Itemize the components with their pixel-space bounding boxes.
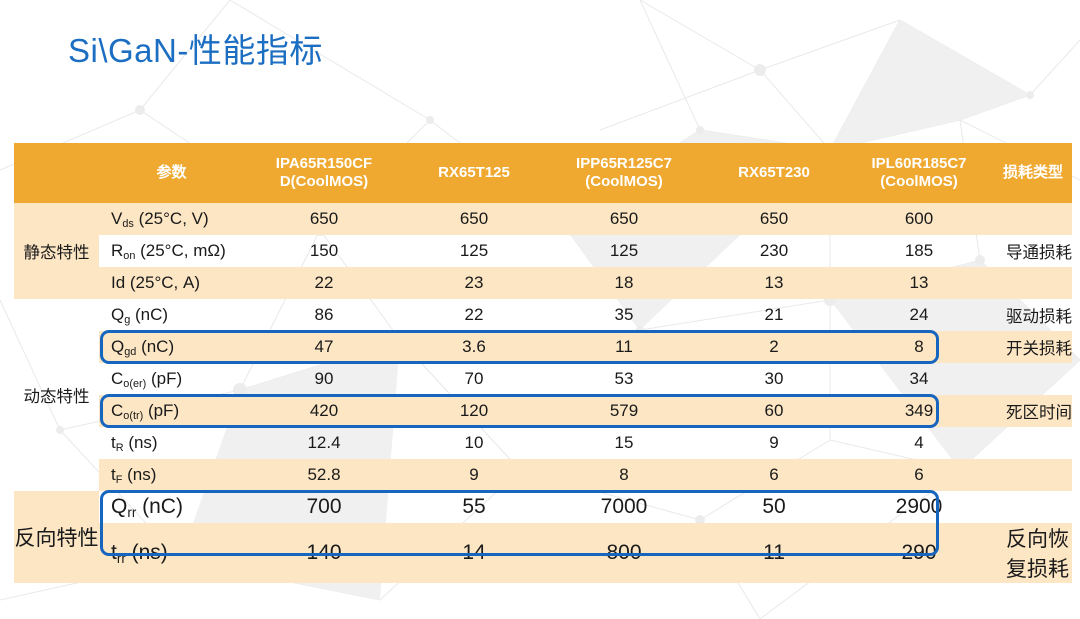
- value-cell: 10: [404, 427, 544, 459]
- value-cell: 2900: [844, 491, 994, 523]
- header-line-1: IPP65R125C7: [576, 155, 672, 172]
- loss-type-cell: 死区时间: [994, 395, 1072, 427]
- value-cell: 2: [704, 331, 844, 363]
- loss-type-cell: [994, 427, 1072, 459]
- spec-table-container: 参数 IPA65R150CF D(CoolMOS) RX65T125 IPP65…: [14, 143, 1072, 583]
- value-cell: 13: [844, 267, 994, 299]
- value-cell: 4: [844, 427, 994, 459]
- table-row: tR (ns)12.4101594: [14, 427, 1072, 459]
- header-line-2: (CoolMOS): [880, 173, 957, 190]
- value-cell: 14: [404, 523, 544, 583]
- value-cell: 800: [544, 523, 704, 583]
- table-row: Qgd (nC)473.61128开关损耗: [14, 331, 1072, 363]
- value-cell: 650: [244, 203, 404, 235]
- value-cell: 6: [844, 459, 994, 491]
- value-cell: 50: [704, 491, 844, 523]
- value-cell: 140: [244, 523, 404, 583]
- spec-table: 参数 IPA65R150CF D(CoolMOS) RX65T125 IPP65…: [14, 143, 1072, 583]
- header-line-1: IPL60R185C7: [871, 155, 966, 172]
- value-cell: 120: [404, 395, 544, 427]
- row-group-label: 动态特性: [14, 299, 99, 491]
- value-cell: 12.4: [244, 427, 404, 459]
- row-group-label: 反向特性: [14, 491, 99, 583]
- param-name: Qrr (nC): [99, 491, 244, 523]
- value-cell: 349: [844, 395, 994, 427]
- value-cell: 650: [404, 203, 544, 235]
- table-row: Co(er) (pF)9070533034: [14, 363, 1072, 395]
- param-name: Vds (25°C, V): [99, 203, 244, 235]
- param-name: Qg (nC): [99, 299, 244, 331]
- header-param: 参数: [99, 143, 244, 203]
- value-cell: 35: [544, 299, 704, 331]
- header-group-blank: [14, 143, 99, 203]
- loss-type-cell: [994, 203, 1072, 235]
- value-cell: 11: [544, 331, 704, 363]
- table-row: trr (ns)1401480011290反向恢复损耗: [14, 523, 1072, 583]
- value-cell: 52.8: [244, 459, 404, 491]
- value-cell: 22: [244, 267, 404, 299]
- value-cell: 230: [704, 235, 844, 267]
- table-body: 静态特性Vds (25°C, V)650650650650600Ron (25°…: [14, 203, 1072, 583]
- loss-type-cell: [994, 267, 1072, 299]
- value-cell: 8: [544, 459, 704, 491]
- value-cell: 7000: [544, 491, 704, 523]
- value-cell: 18: [544, 267, 704, 299]
- value-cell: 60: [704, 395, 844, 427]
- table-row: 静态特性Vds (25°C, V)650650650650600: [14, 203, 1072, 235]
- header-loss-type: 损耗类型: [994, 143, 1072, 203]
- header-ipa65r150cfd: IPA65R150CF D(CoolMOS): [244, 143, 404, 203]
- header-line-1: IPA65R150CF: [276, 155, 372, 172]
- value-cell: 23: [404, 267, 544, 299]
- header-ipl60r185c7: IPL60R185C7 (CoolMOS): [844, 143, 994, 203]
- value-cell: 22: [404, 299, 544, 331]
- loss-type-cell: 开关损耗: [994, 331, 1072, 363]
- value-cell: 650: [544, 203, 704, 235]
- loss-type-cell: 驱动损耗: [994, 299, 1072, 331]
- loss-type-cell: 导通损耗: [994, 235, 1072, 267]
- table-row: Ron (25°C, mΩ)150125125230185导通损耗: [14, 235, 1072, 267]
- slide-title: Si\GaN-性能指标: [68, 24, 323, 72]
- value-cell: 24: [844, 299, 994, 331]
- table-row: 反向特性Qrr (nC)700557000502900: [14, 491, 1072, 523]
- loss-type-cell: [994, 491, 1072, 523]
- loss-type-cell: [994, 459, 1072, 491]
- value-cell: 13: [704, 267, 844, 299]
- value-cell: 125: [544, 235, 704, 267]
- value-cell: 9: [704, 427, 844, 459]
- value-cell: 34: [844, 363, 994, 395]
- value-cell: 11: [704, 523, 844, 583]
- value-cell: 86: [244, 299, 404, 331]
- value-cell: 30: [704, 363, 844, 395]
- value-cell: 55: [404, 491, 544, 523]
- value-cell: 125: [404, 235, 544, 267]
- loss-type-cell: [994, 363, 1072, 395]
- value-cell: 90: [244, 363, 404, 395]
- header-rx65t125: RX65T125: [404, 143, 544, 203]
- header-rx65t230: RX65T230: [704, 143, 844, 203]
- value-cell: 3.6: [404, 331, 544, 363]
- header-line-2: D(CoolMOS): [280, 173, 368, 190]
- value-cell: 700: [244, 491, 404, 523]
- loss-type-cell: 反向恢复损耗: [994, 523, 1072, 583]
- value-cell: 650: [704, 203, 844, 235]
- value-cell: 21: [704, 299, 844, 331]
- param-name: Id (25°C, A): [99, 267, 244, 299]
- table-row: Id (25°C, A)2223181313: [14, 267, 1072, 299]
- value-cell: 600: [844, 203, 994, 235]
- table-row: tF (ns)52.89866: [14, 459, 1072, 491]
- param-name: tF (ns): [99, 459, 244, 491]
- value-cell: 47: [244, 331, 404, 363]
- value-cell: 8: [844, 331, 994, 363]
- row-group-label: 静态特性: [14, 203, 99, 299]
- value-cell: 420: [244, 395, 404, 427]
- value-cell: 6: [704, 459, 844, 491]
- param-name: Co(er) (pF): [99, 363, 244, 395]
- value-cell: 9: [404, 459, 544, 491]
- table-header-row: 参数 IPA65R150CF D(CoolMOS) RX65T125 IPP65…: [14, 143, 1072, 203]
- param-name: Ron (25°C, mΩ): [99, 235, 244, 267]
- param-name: Co(tr) (pF): [99, 395, 244, 427]
- value-cell: 579: [544, 395, 704, 427]
- value-cell: 185: [844, 235, 994, 267]
- value-cell: 70: [404, 363, 544, 395]
- value-cell: 15: [544, 427, 704, 459]
- value-cell: 290: [844, 523, 994, 583]
- table-row: Co(tr) (pF)42012057960349死区时间: [14, 395, 1072, 427]
- header-line-2: (CoolMOS): [585, 173, 662, 190]
- value-cell: 53: [544, 363, 704, 395]
- param-name: Qgd (nC): [99, 331, 244, 363]
- param-name: tR (ns): [99, 427, 244, 459]
- param-name: trr (ns): [99, 523, 244, 583]
- table-row: 动态特性Qg (nC)8622352124驱动损耗: [14, 299, 1072, 331]
- value-cell: 150: [244, 235, 404, 267]
- header-ipp65r125c7: IPP65R125C7 (CoolMOS): [544, 143, 704, 203]
